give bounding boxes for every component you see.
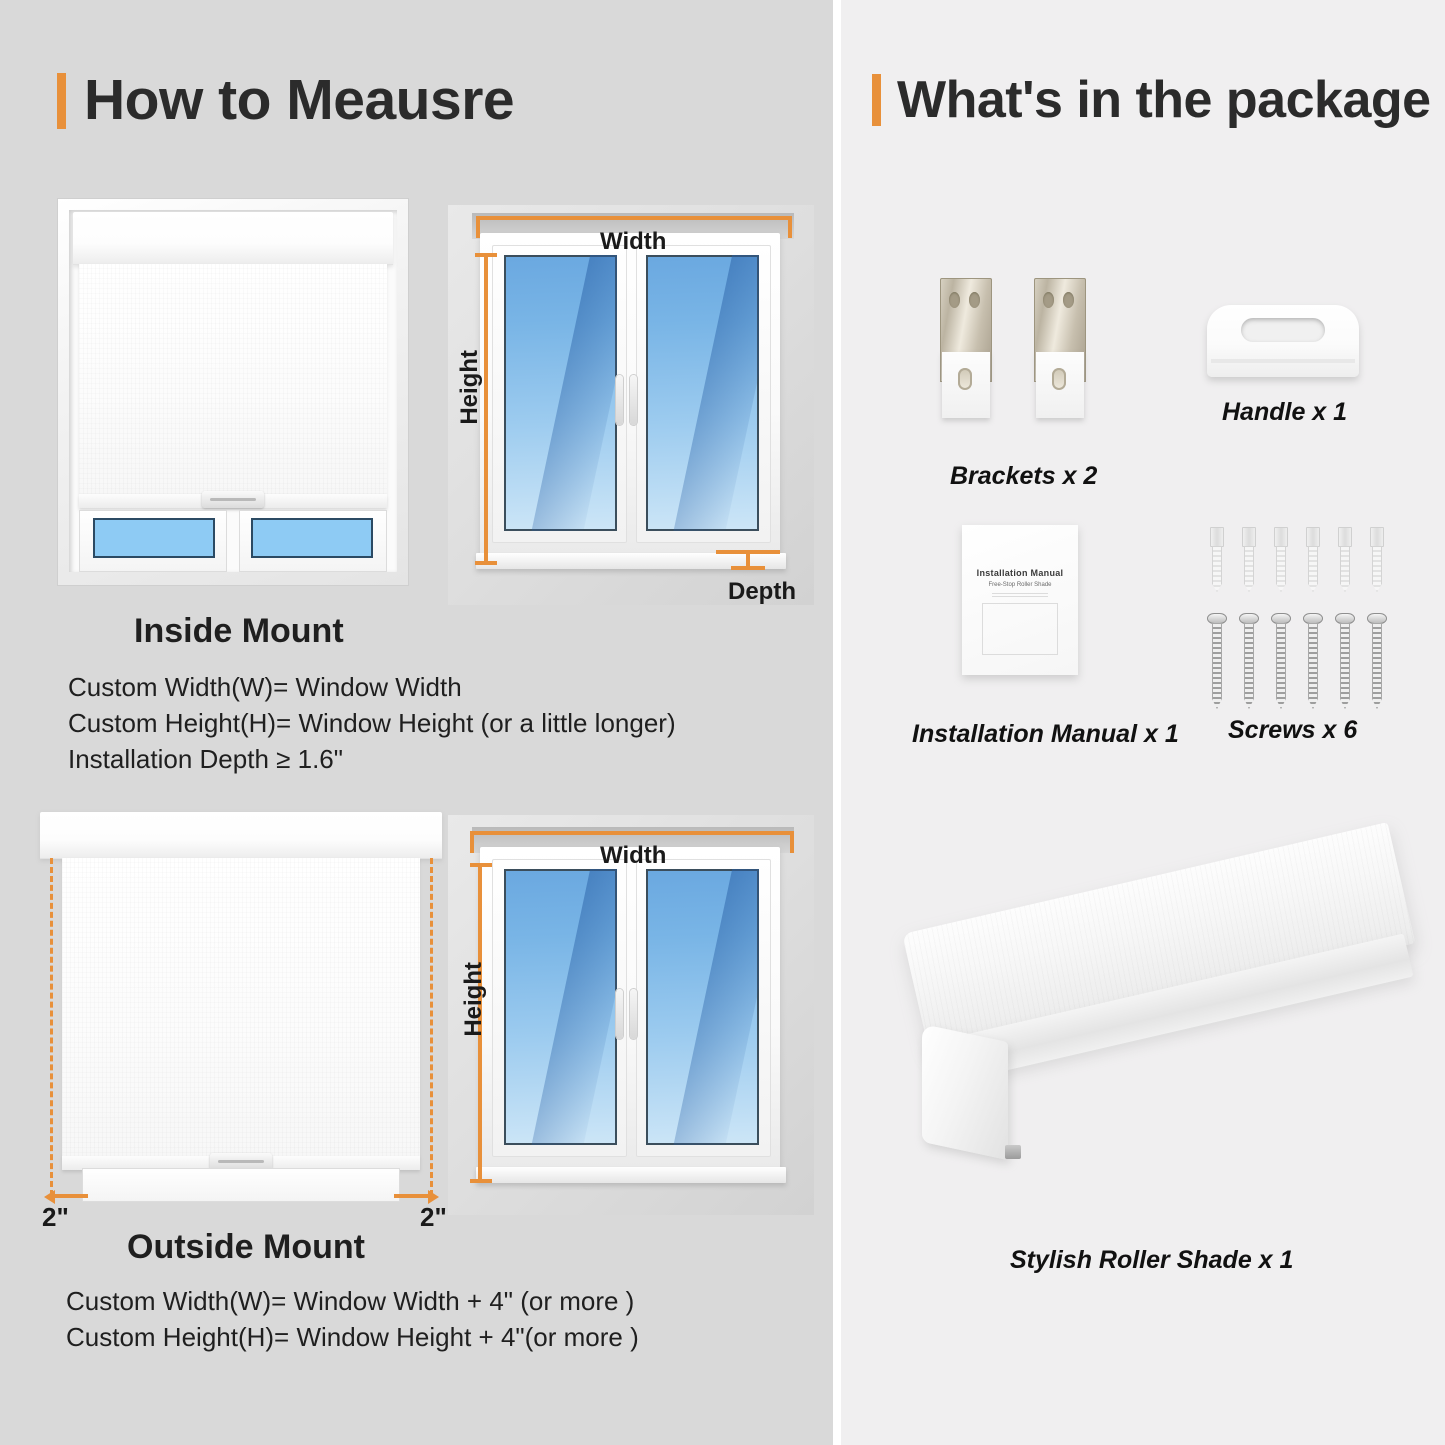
outside-mount-spec-1: Custom Width(W)= Window Width + 4" (or m… [66,1286,634,1317]
width-measure-line [476,216,792,220]
screw-icon [1239,613,1259,709]
accent-bar-icon [872,74,881,126]
window-handle-right [630,989,637,1039]
right-panel-heading: What's in the package [872,74,1431,126]
window-glass-left [504,255,617,531]
screw-icon [1271,613,1291,709]
window-glass-left [504,869,617,1145]
wall-anchor-icon [1369,527,1385,593]
depth-label: Depth [728,578,796,606]
overhang-label-right: 2" [420,1202,447,1233]
shade-headrail [40,812,442,859]
handle-label: Handle x 1 [1222,398,1347,427]
inside-mount-title: Inside Mount [134,612,344,651]
window-sash-right [636,859,771,1157]
outside-mount-spec-2: Custom Height(H)= Window Height + 4"(or … [66,1322,639,1353]
window-glass-left [93,518,215,558]
shade-pull-handle [202,491,264,508]
right-heading-text: What's in the package [897,74,1431,126]
wall-anchor-icon [1273,527,1289,593]
inside-mount-shade-illustration [57,198,409,586]
brackets-label: Brackets x 2 [950,462,1097,491]
height-label-top: Height [456,350,484,425]
depth-measure-foot [731,566,765,570]
width-measure-cap-right [788,216,792,238]
screw-icon [1303,613,1323,709]
roller-shade-label: Stylish Roller Shade x 1 [1010,1246,1293,1275]
wall-anchor-icon [1305,527,1321,593]
manual-cover-title: Installation Manual [970,568,1070,578]
window-sash-left [492,245,627,543]
screw-icon [1207,613,1227,709]
window-sash-left [79,510,227,572]
overhang-arrow-left [50,1194,88,1198]
width-measure-cap-left [476,216,480,238]
manual-cover-lines [992,591,1048,597]
bracket-icon [1034,278,1086,428]
overhang-dashed-right [430,858,433,1196]
roller-shade-end-cap [922,1024,1008,1160]
window-glass-right [646,255,759,531]
infographic-page: How to Meausre Inside Mount Custom Width… [0,0,1445,1445]
width-measure-cap-right [790,831,794,853]
window-sill [476,1167,786,1183]
wall-anchor-icon [1209,527,1225,593]
handle-icon [1207,305,1359,377]
shade-headrail [73,212,393,265]
window-beneath-shade [82,1168,400,1202]
panel-divider [833,0,841,1445]
roller-shade-pin [1005,1145,1021,1159]
wall-anchor-icon [1337,527,1353,593]
overhang-arrow-right [394,1194,432,1198]
outside-mount-title: Outside Mount [127,1228,365,1267]
screw-icon [1367,613,1387,709]
overhang-label-left: 2" [42,1202,69,1233]
window-sash-left [492,859,627,1157]
inside-mount-spec-3: Installation Depth ≥ 1.6" [68,744,343,775]
overhang-dashed-left [50,858,53,1196]
accent-bar-icon [57,73,66,129]
width-measure-cap-left [470,831,474,853]
inside-mount-spec-1: Custom Width(W)= Window Width [68,672,462,703]
left-panel-heading: How to Meausre [57,72,514,129]
height-measure-cap-bottom [475,561,497,565]
height-measure-cap-bottom [470,1179,492,1183]
height-label-bottom: Height [460,962,488,1037]
height-measure-line [484,253,488,563]
manual-cover-subtitle: Free-Stop Roller Shade [970,582,1070,588]
wall-anchor-icon [1241,527,1257,593]
window-handle-left [616,989,623,1039]
shade-fabric [79,264,387,494]
window-handle-left [616,375,623,425]
window-glass-right [251,518,373,558]
height-measure-cap-top [475,253,497,257]
width-label-bottom: Width [600,842,666,870]
window-glass-right [646,869,759,1145]
inside-mount-measure-diagram [448,205,814,605]
screws-label: Screws x 6 [1228,716,1357,745]
screw-icon [1335,613,1355,709]
height-measure-cap-top [470,863,492,867]
manual-icon: Installation Manual Free-Stop Roller Sha… [962,525,1078,675]
shade-fabric [62,858,420,1158]
outside-mount-shade-illustration [40,812,442,1202]
outside-mount-measure-diagram [448,815,814,1215]
roller-shade-icon [912,893,1427,1203]
window-sash-right [636,245,771,543]
inside-mount-spec-2: Custom Height(H)= Window Height (or a li… [68,708,676,739]
left-heading-text: How to Meausre [84,72,514,129]
width-label-top: Width [600,228,666,256]
window-sash-right [239,510,387,572]
window-handle-right [630,375,637,425]
width-measure-line [470,831,794,835]
manual-label: Installation Manual x 1 [912,720,1179,749]
bracket-icon [940,278,992,428]
manual-cover-figure [982,603,1058,655]
